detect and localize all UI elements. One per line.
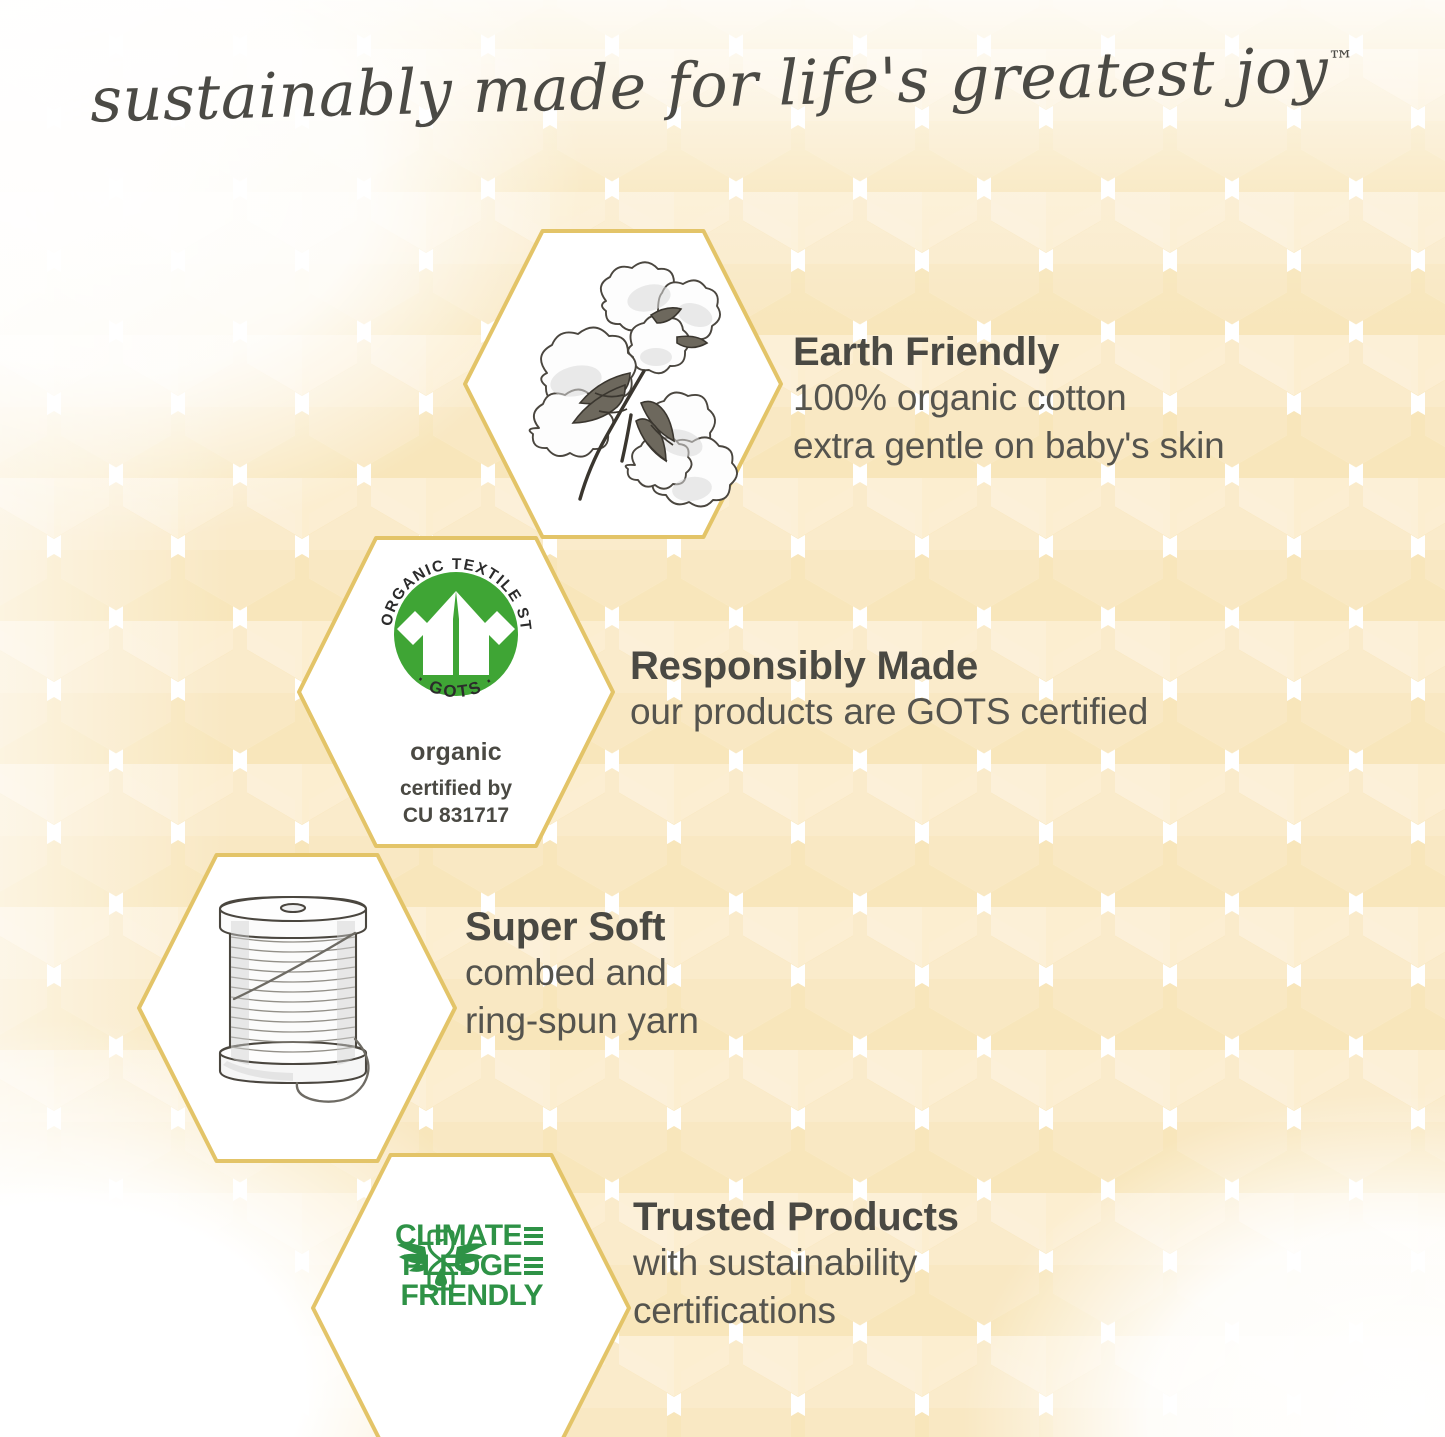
feature-heading: Trusted Products xyxy=(633,1196,959,1239)
feature-text-trusted-products: Trusted Products with sustainability cer… xyxy=(633,1196,959,1334)
feature-trusted-products: CLIMATE PLEDGE FRIENDLY xyxy=(0,0,1445,1437)
trademark-symbol: ™ xyxy=(1328,46,1355,77)
winged-hourglass-icon xyxy=(395,1221,487,1299)
cpf-bars-icon xyxy=(524,1257,543,1275)
cpf-bars-icon xyxy=(524,1227,543,1245)
climate-pledge-friendly-logo-icon: CLIMATE PLEDGE FRIENDLY xyxy=(395,1221,543,1311)
feature-line-1: with sustainability xyxy=(633,1239,959,1286)
hex-card-climate-pledge: CLIMATE PLEDGE FRIENDLY xyxy=(310,1152,632,1437)
feature-line-2: certifications xyxy=(633,1287,959,1334)
infographic-page: sustainably made for life's greatest joy… xyxy=(0,0,1445,1437)
